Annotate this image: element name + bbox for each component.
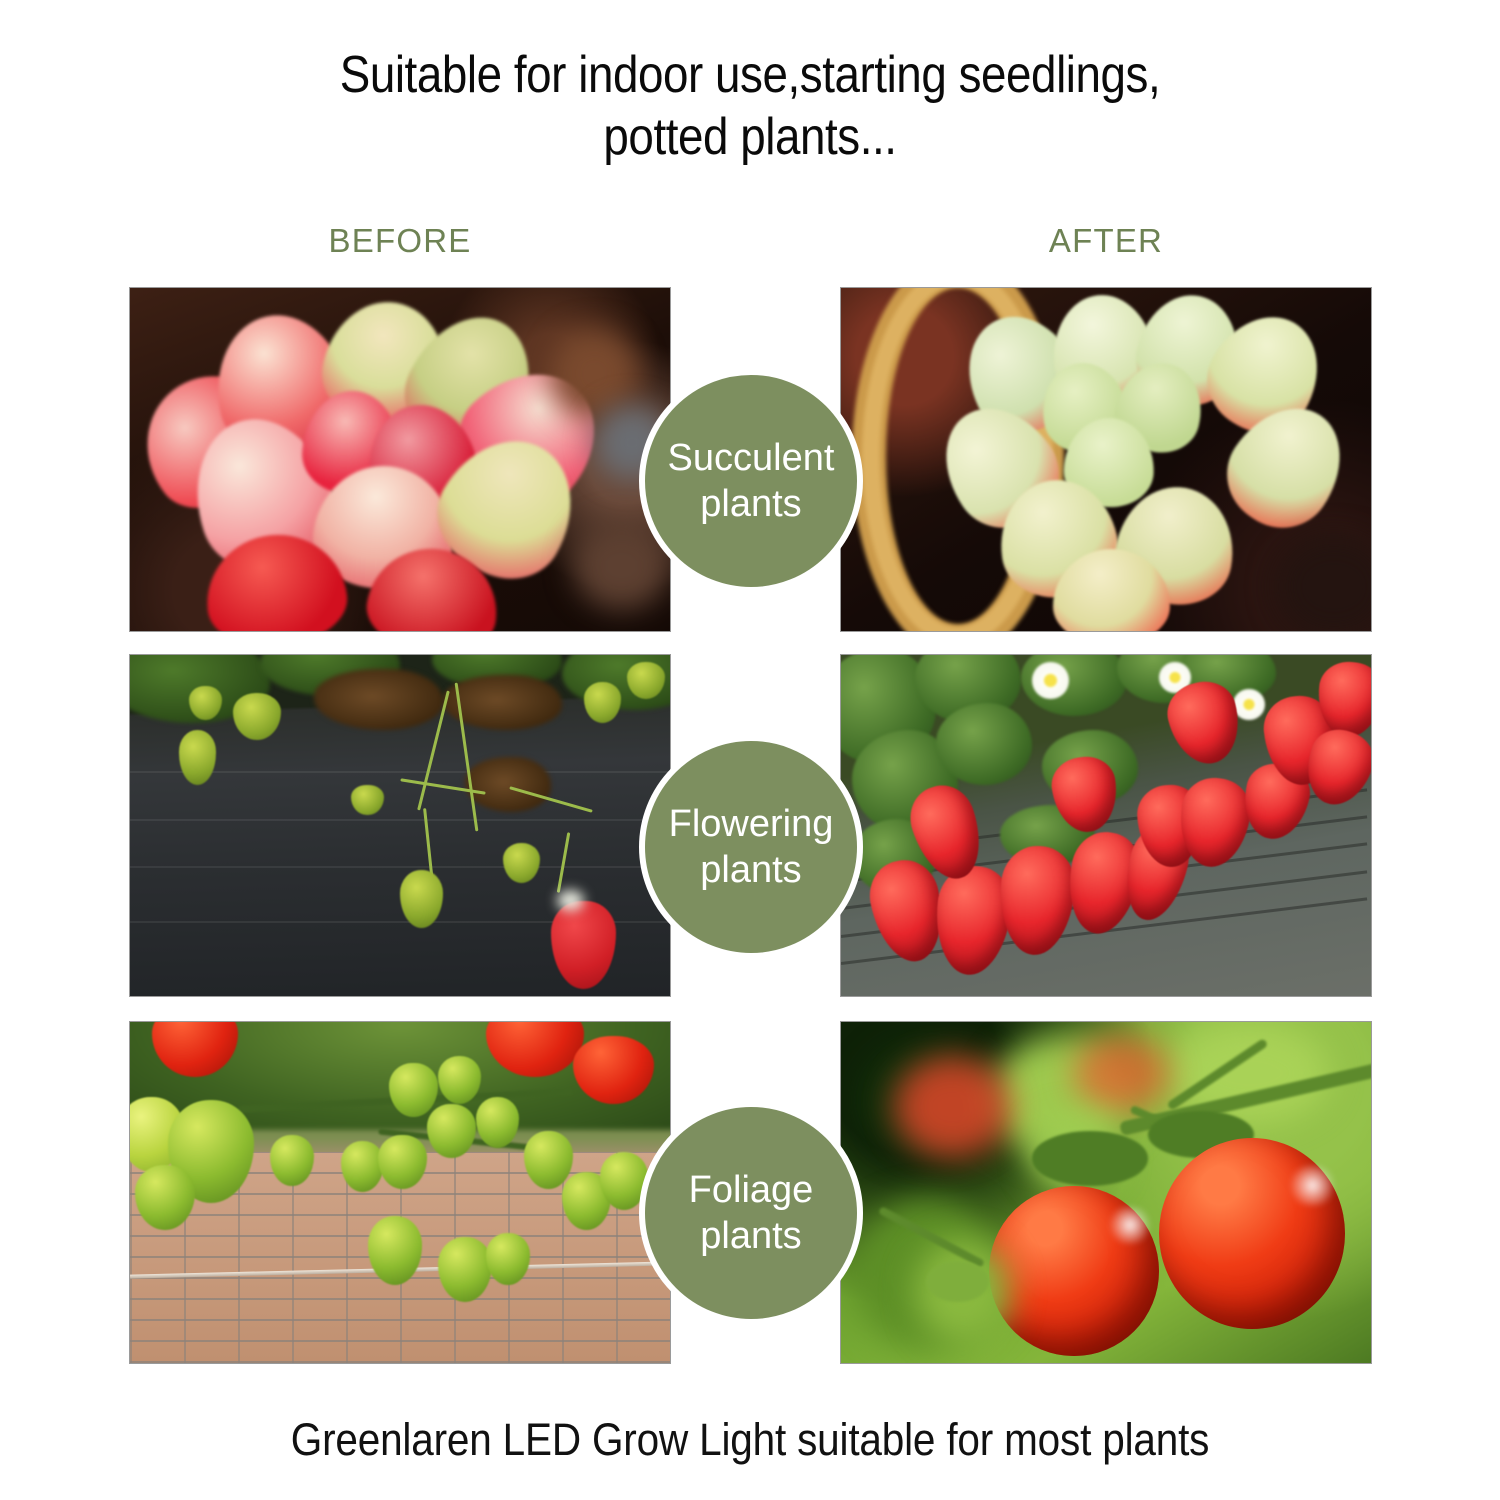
badge-flowering-line-1: Flowering [669,801,834,847]
badge-flowering-plants: Flowering plants [639,735,863,959]
badge-foliage-plants: Foliage plants [639,1101,863,1325]
photo-after-foliage [840,1021,1372,1364]
flowering-before-scene [130,655,670,996]
badge-foliage-line-1: Foliage [689,1167,814,1213]
badge-succulent-plants: Succulent plants [639,369,863,593]
footer-caption: Greenlaren LED Grow Light suitable for m… [75,1414,1425,1466]
badge-succulent-label: Succulent plants [668,435,835,527]
column-label-before: BEFORE [129,222,671,260]
photo-before-foliage [129,1021,671,1364]
badge-succulent-line-1: Succulent [668,435,835,481]
page-title: Suitable for indoor use,starting seedlin… [90,44,1410,168]
flowering-after-scene [841,655,1371,996]
photo-before-succulent [129,287,671,632]
photo-after-succulent [840,287,1372,632]
page-title-line-2: potted plants... [90,106,1410,168]
photo-after-flowering [840,654,1372,997]
photo-before-flowering [129,654,671,997]
badge-flowering-label: Flowering plants [669,801,834,893]
foliage-after-scene [841,1022,1371,1363]
page-title-line-1: Suitable for indoor use,starting seedlin… [90,44,1410,106]
column-label-after: AFTER [840,222,1372,260]
succulent-after-scene [841,288,1371,631]
badge-foliage-label: Foliage plants [689,1167,814,1259]
badge-flowering-line-2: plants [669,847,834,893]
product-infographic: Suitable for indoor use,starting seedlin… [0,0,1500,1500]
badge-foliage-line-2: plants [689,1213,814,1259]
badge-succulent-line-2: plants [668,481,835,527]
succulent-before-scene [130,288,670,631]
foliage-before-scene [130,1022,670,1363]
